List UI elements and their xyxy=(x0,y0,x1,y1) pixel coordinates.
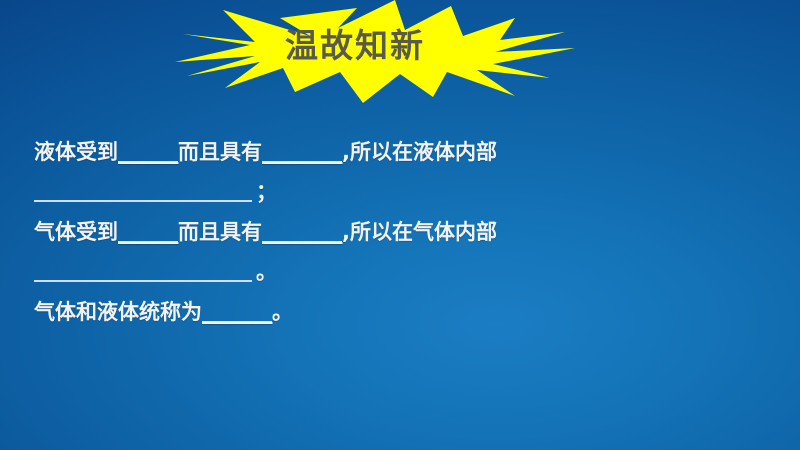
slide-canvas: 温故知新 液体受到______而且具有________,所以在液体内部 ； 气体… xyxy=(0,0,800,450)
liquid-comma: , xyxy=(342,140,350,164)
summary-blank: _______ xyxy=(202,300,272,324)
liquid-after: 所以在液体内部 xyxy=(350,140,497,164)
paragraph-summary: 气体和液体统称为_______。 xyxy=(34,292,674,332)
gas-mid: 而且具有 xyxy=(178,220,262,244)
gas-tail-line: 。 xyxy=(34,252,674,292)
gas-tail-punct: 。 xyxy=(256,260,277,284)
paragraph-gas: 气体受到______而且具有________,所以在气体内部 。 xyxy=(34,212,674,292)
liquid-tail-blank xyxy=(34,180,252,202)
gas-lead: 气体受到 xyxy=(34,220,118,244)
summary-lead: 气体和液体统称为 xyxy=(34,300,202,324)
gas-blank-1: ______ xyxy=(118,220,178,244)
paragraph-liquid: 液体受到______而且具有________,所以在液体内部 ； xyxy=(34,132,674,212)
liquid-tail-line: ； xyxy=(34,172,674,212)
summary-punct: 。 xyxy=(272,300,293,324)
title-starburst: 温故知新 xyxy=(95,0,615,105)
liquid-lead: 液体受到 xyxy=(34,140,118,164)
liquid-tail-punct: ； xyxy=(256,180,277,204)
liquid-blank-1: ______ xyxy=(118,140,178,164)
title-text: 温故知新 xyxy=(95,24,615,68)
liquid-blank-2: ________ xyxy=(262,140,342,164)
gas-after: 所以在气体内部 xyxy=(350,220,497,244)
content-text-block: 液体受到______而且具有________,所以在液体内部 ； 气体受到___… xyxy=(34,132,674,332)
gas-blank-2: ________ xyxy=(262,220,342,244)
gas-tail-blank xyxy=(34,260,252,282)
gas-comma: , xyxy=(342,220,350,244)
liquid-mid: 而且具有 xyxy=(178,140,262,164)
